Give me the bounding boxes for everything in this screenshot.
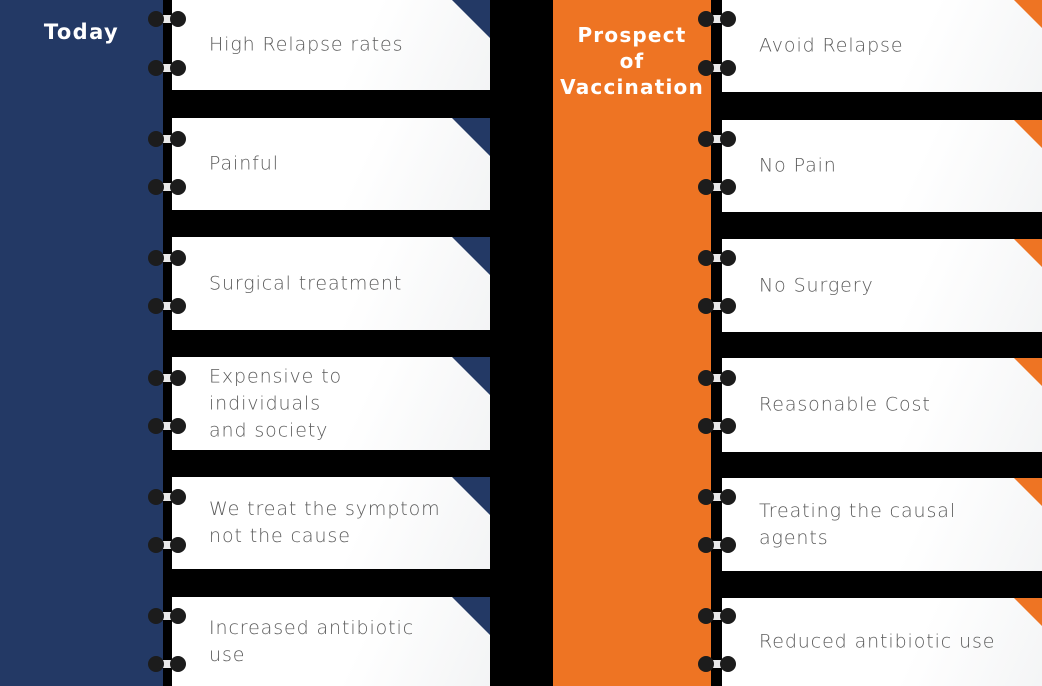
binder-ring-icon <box>148 489 186 505</box>
binder-ring-icon <box>698 11 736 27</box>
binder-ring-knob-left <box>698 250 714 266</box>
binder-ring-icon <box>698 298 736 314</box>
card-label: Treating the causal agents <box>759 498 1008 552</box>
binder-ring-knob-left <box>148 60 164 76</box>
comparison-board: Today Prospect of Vaccination High Relap… <box>0 0 1042 686</box>
card-left-1[interactable]: High Relapse rates <box>172 0 490 90</box>
card-left-6[interactable]: Increased antibiotic use <box>172 597 490 686</box>
page-fold-corner-icon <box>1014 120 1042 158</box>
binder-ring-knob-right <box>720 179 736 195</box>
binder-ring-knob-left <box>698 370 714 386</box>
binder-ring-knob-left <box>148 418 164 434</box>
page-fold-corner-icon <box>452 0 490 38</box>
binder-ring-knob-right <box>170 418 186 434</box>
binder-ring-knob-left <box>698 418 714 434</box>
left-binder-spine <box>163 0 172 686</box>
card-label: Reasonable Cost <box>759 392 1008 419</box>
page-fold-corner-icon <box>452 357 490 395</box>
page-fold-corner-icon <box>452 597 490 635</box>
binder-ring-knob-left <box>148 489 164 505</box>
card-label: Surgical treatment <box>209 270 446 297</box>
binder-ring-knob-right <box>720 131 736 147</box>
binder-ring-knob-left <box>698 489 714 505</box>
binder-ring-knob-right <box>170 489 186 505</box>
binder-ring-knob-left <box>148 656 164 672</box>
binder-ring-icon <box>698 60 736 76</box>
page-fold-corner-icon <box>1014 358 1042 396</box>
binder-ring-icon <box>148 131 186 147</box>
center-title-line-2: of <box>553 48 711 74</box>
card-label: No Pain <box>759 153 1008 180</box>
binder-ring-knob-right <box>170 656 186 672</box>
binder-ring-knob-right <box>170 298 186 314</box>
center-column-title: Prospect of Vaccination <box>553 22 711 100</box>
binder-ring-knob-right <box>170 370 186 386</box>
page-fold-corner-icon <box>1014 239 1042 277</box>
card-left-4[interactable]: Expensive to individuals and society <box>172 357 490 450</box>
binder-ring-knob-left <box>698 537 714 553</box>
binder-ring-icon <box>148 370 186 386</box>
binder-ring-icon <box>148 608 186 624</box>
binder-ring-knob-right <box>720 11 736 27</box>
page-fold-corner-icon <box>1014 0 1042 38</box>
card-label: We treat the symptom not the cause <box>209 496 446 550</box>
binder-ring-icon <box>148 418 186 434</box>
binder-ring-icon <box>698 537 736 553</box>
page-fold-corner-icon <box>452 118 490 156</box>
binder-ring-icon <box>148 298 186 314</box>
binder-ring-knob-left <box>698 11 714 27</box>
binder-ring-knob-left <box>698 656 714 672</box>
binder-ring-knob-left <box>698 298 714 314</box>
card-label: Expensive to individuals and society <box>209 363 446 444</box>
binder-ring-knob-left <box>698 60 714 76</box>
card-right-4[interactable]: Reasonable Cost <box>722 358 1042 452</box>
left-column-title: Today <box>0 20 163 44</box>
page-fold-corner-icon <box>1014 598 1042 636</box>
binder-ring-knob-right <box>720 298 736 314</box>
binder-ring-knob-right <box>170 608 186 624</box>
card-label: Avoid Relapse <box>759 33 1008 60</box>
binder-ring-knob-left <box>148 179 164 195</box>
binder-ring-knob-right <box>720 370 736 386</box>
binder-ring-knob-left <box>698 131 714 147</box>
binder-ring-icon <box>698 250 736 266</box>
card-left-3[interactable]: Surgical treatment <box>172 237 490 330</box>
binder-ring-knob-left <box>148 131 164 147</box>
card-right-2[interactable]: No Pain <box>722 120 1042 212</box>
binder-ring-knob-left <box>148 370 164 386</box>
card-right-1[interactable]: Avoid Relapse <box>722 0 1042 92</box>
binder-ring-icon <box>148 250 186 266</box>
binder-ring-icon <box>148 656 186 672</box>
binder-ring-knob-left <box>148 537 164 553</box>
binder-ring-knob-right <box>170 131 186 147</box>
card-right-5[interactable]: Treating the causal agents <box>722 478 1042 571</box>
binder-ring-icon <box>148 60 186 76</box>
card-label: No Surgery <box>759 272 1008 299</box>
center-column-panel: Prospect of Vaccination <box>553 0 711 686</box>
card-right-3[interactable]: No Surgery <box>722 239 1042 332</box>
binder-ring-knob-right <box>170 179 186 195</box>
left-column-panel: Today <box>0 0 163 686</box>
binder-ring-icon <box>698 131 736 147</box>
binder-ring-knob-right <box>720 489 736 505</box>
binder-ring-knob-left <box>148 298 164 314</box>
binder-ring-knob-right <box>170 60 186 76</box>
binder-ring-knob-right <box>720 418 736 434</box>
card-label: Painful <box>209 151 446 178</box>
card-label: Increased antibiotic use <box>209 615 446 669</box>
card-left-2[interactable]: Painful <box>172 118 490 210</box>
page-fold-corner-icon <box>1014 478 1042 516</box>
page-fold-corner-icon <box>452 477 490 515</box>
binder-ring-icon <box>698 370 736 386</box>
binder-ring-knob-right <box>720 656 736 672</box>
binder-ring-knob-left <box>698 608 714 624</box>
right-binder-spine <box>711 0 722 686</box>
binder-ring-knob-left <box>148 250 164 266</box>
binder-ring-icon <box>698 489 736 505</box>
binder-ring-icon <box>148 11 186 27</box>
binder-ring-knob-right <box>720 250 736 266</box>
card-left-5[interactable]: We treat the symptom not the cause <box>172 477 490 569</box>
binder-ring-icon <box>698 656 736 672</box>
binder-ring-knob-right <box>170 11 186 27</box>
binder-ring-knob-right <box>170 537 186 553</box>
center-title-line-1: Prospect <box>553 22 711 48</box>
binder-ring-icon <box>148 537 186 553</box>
binder-ring-knob-right <box>720 537 736 553</box>
binder-ring-knob-right <box>720 60 736 76</box>
card-label: High Relapse rates <box>209 32 446 59</box>
binder-ring-icon <box>698 418 736 434</box>
binder-ring-knob-right <box>720 608 736 624</box>
binder-ring-icon <box>698 179 736 195</box>
binder-ring-knob-left <box>698 179 714 195</box>
page-fold-corner-icon <box>452 237 490 275</box>
binder-ring-knob-left <box>148 608 164 624</box>
binder-ring-icon <box>698 608 736 624</box>
card-right-6[interactable]: Reduced antibiotic use <box>722 598 1042 686</box>
binder-ring-knob-right <box>170 250 186 266</box>
center-title-line-3: Vaccination <box>553 74 711 100</box>
binder-ring-knob-left <box>148 11 164 27</box>
binder-ring-icon <box>148 179 186 195</box>
card-label: Reduced antibiotic use <box>759 629 1008 656</box>
